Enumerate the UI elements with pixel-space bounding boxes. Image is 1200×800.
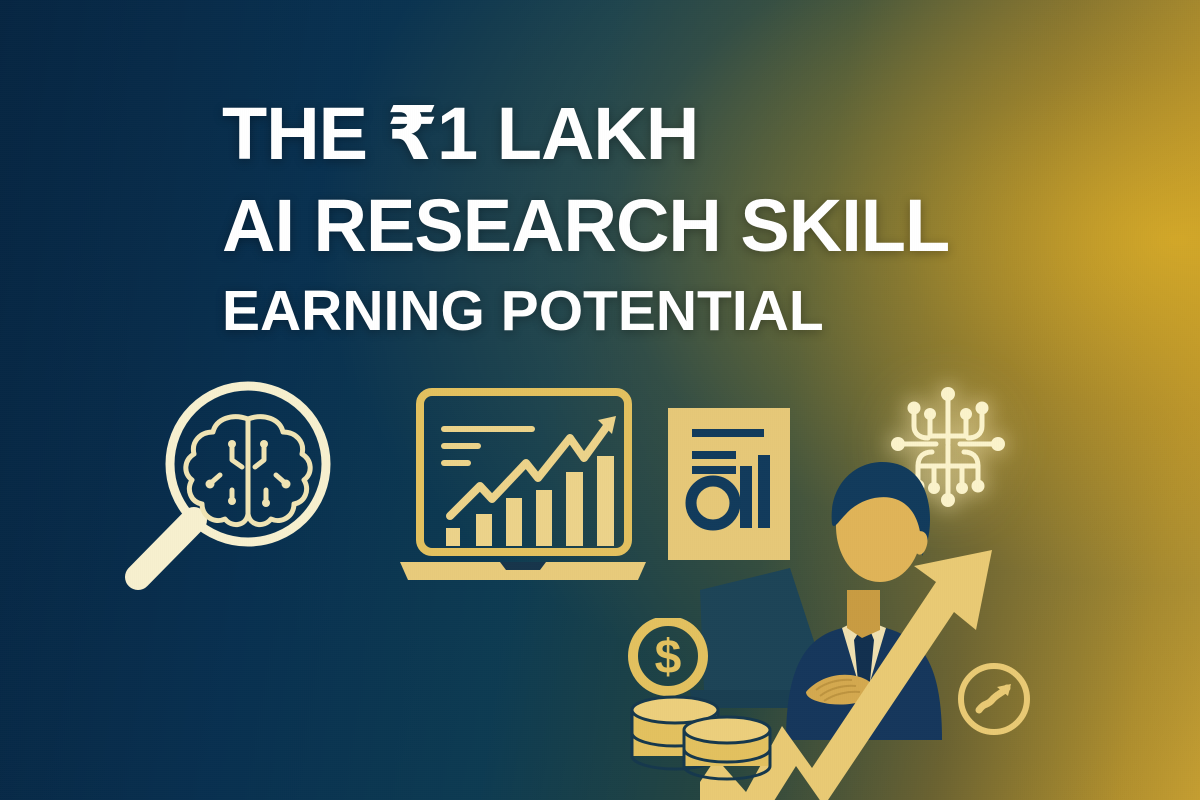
coin-currency-symbol: $: [655, 631, 682, 684]
money-coins-icon: $: [618, 618, 788, 783]
magnifier-brain-icon: [108, 372, 348, 602]
banner-canvas: THE ₹1 LAKH AI RESEARCH SKILL EARNING PO…: [0, 0, 1200, 800]
laptop-growth-chart-icon: [392, 386, 654, 588]
headline-block: THE ₹1 LAKH AI RESEARCH SKILL EARNING PO…: [222, 88, 1052, 350]
headline-line-3: EARNING POTENTIAL: [222, 272, 1052, 350]
trend-up-badge-icon: [955, 660, 1033, 738]
headline-line-1: THE ₹1 LAKH: [222, 88, 1052, 180]
headline-line-2: AI RESEARCH SKILL: [222, 180, 1052, 272]
